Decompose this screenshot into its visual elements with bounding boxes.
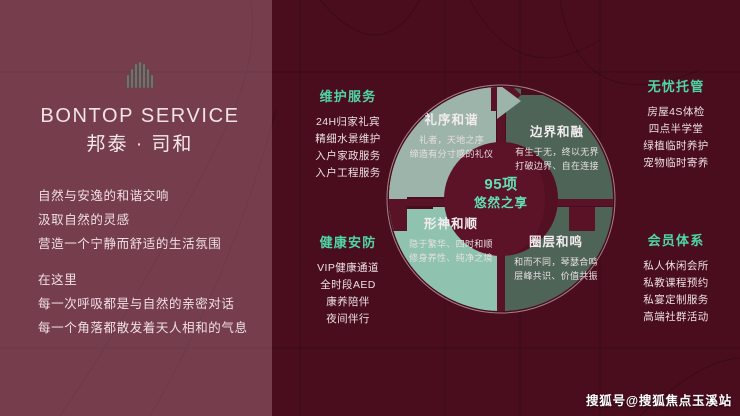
service-group-custody: 无忧托管 房屋4S体检 四点半学堂 绿植临时养护 宠物临时寄养: [620, 76, 732, 172]
service-item: 高端社群活动: [620, 309, 732, 326]
service-group-membership: 会员体系 私人休闲会所 私教课程预约 私宴定制服务 高端社群活动: [620, 230, 732, 326]
service-item: 房屋4S体检: [620, 104, 732, 121]
brand-title-en: BONTOP SERVICE: [30, 104, 250, 129]
hero-line: 每一次呼吸都是与自然的亲密对话: [38, 292, 250, 316]
cycle-diagram: 礼序和谐 礼者，天地之序 缔造有分寸感的礼仪 边界和融 有生于无，终以无界 打破…: [381, 79, 621, 319]
slide-canvas: BONTOP SERVICE 邦泰 · 司和 自然与安逸的和谐交响 汲取自然的灵…: [0, 0, 740, 416]
hero-line: 自然与安逸的和谐交响: [38, 184, 250, 208]
hero-copy: 自然与安逸的和谐交响 汲取自然的灵感 营造一个宁静而舒适的生活氛围 在这里 每一…: [30, 184, 250, 340]
service-item: 私人休闲会所: [620, 258, 732, 275]
service-item: 宠物临时寄养: [620, 155, 732, 172]
hero-line: 汲取自然的灵感: [38, 208, 250, 232]
copy-spacer: [38, 256, 250, 268]
hero-line: 每一个角落都散发着天人相和的气息: [38, 316, 250, 340]
brand-title-cn: 邦泰 · 司和: [30, 133, 250, 158]
service-group-title: 无忧托管: [620, 76, 732, 95]
hero-line: 营造一个宁静而舒适的生活氛围: [38, 232, 250, 256]
service-item: 绿植临时养护: [620, 138, 732, 155]
hero-line: 在这里: [38, 268, 250, 292]
service-item: 私宴定制服务: [620, 292, 732, 309]
equalizer-bars-logo-icon: [120, 62, 160, 88]
service-item: 四点半学堂: [620, 121, 732, 138]
service-item: 私教课程预约: [620, 275, 732, 292]
watermark: 搜狐号@搜狐焦点玉溪站: [586, 390, 732, 409]
service-group-title: 会员体系: [620, 230, 732, 249]
hero-block: BONTOP SERVICE 邦泰 · 司和 自然与安逸的和谐交响 汲取自然的灵…: [0, 0, 272, 416]
